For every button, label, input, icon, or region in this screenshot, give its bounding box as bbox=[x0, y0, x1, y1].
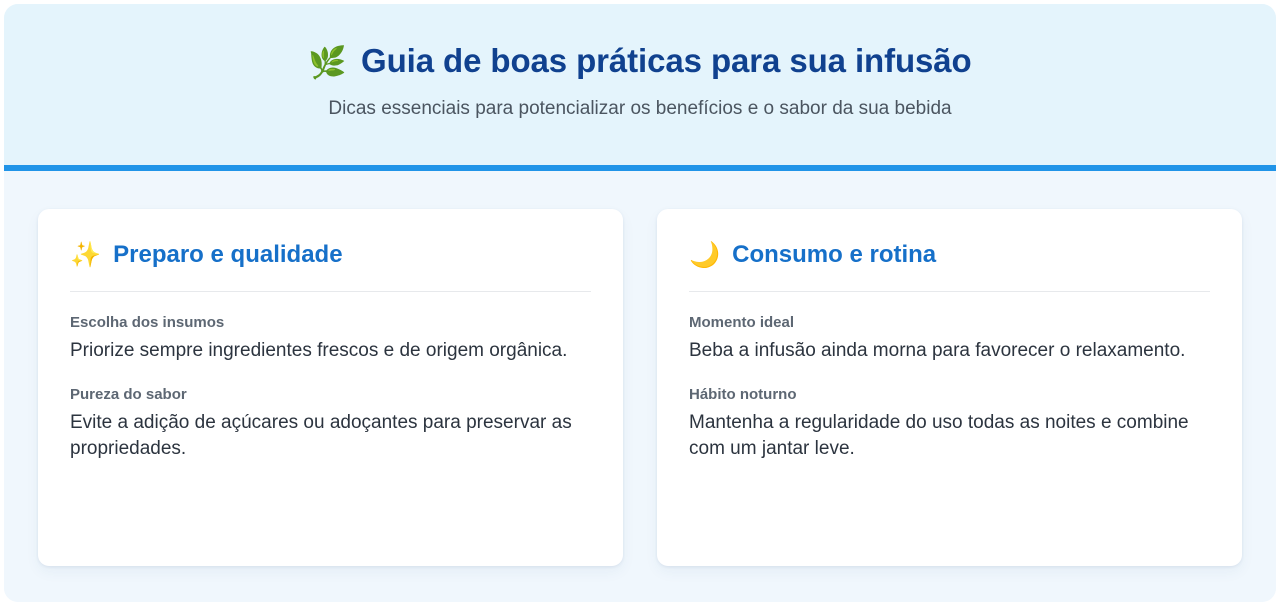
card-title: Consumo e rotina bbox=[732, 241, 936, 269]
tip-text: Priorize sempre ingredientes frescos e d… bbox=[70, 338, 591, 364]
cards-container: ✨ Preparo e qualidade Escolha dos insumo… bbox=[4, 171, 1276, 602]
tip-label: Hábito noturno bbox=[689, 386, 1210, 405]
card-header: 🌙 Consumo e rotina bbox=[689, 239, 1210, 271]
crescent-moon-icon: 🌙 bbox=[689, 243, 720, 268]
card-consumo-e-rotina: 🌙 Consumo e rotina Momento ideal Beba a … bbox=[657, 209, 1242, 566]
page-subtitle: Dicas essenciais para potencializar os b… bbox=[4, 98, 1276, 120]
card-header: ✨ Preparo e qualidade bbox=[70, 239, 591, 271]
herb-leaf-icon: 🌿 bbox=[308, 47, 347, 78]
sparkles-icon: ✨ bbox=[70, 243, 101, 268]
tip-label: Escolha dos insumos bbox=[70, 314, 591, 333]
guide-panel: 🌿 Guia de boas práticas para sua infusão… bbox=[4, 4, 1276, 602]
card-separator bbox=[70, 291, 591, 292]
page-header: 🌿 Guia de boas práticas para sua infusão… bbox=[4, 4, 1276, 165]
card-title: Preparo e qualidade bbox=[113, 241, 342, 269]
tip-text: Beba a infusão ainda morna para favorece… bbox=[689, 338, 1210, 364]
title-row: 🌿 Guia de boas práticas para sua infusão bbox=[4, 38, 1276, 84]
page-title: Guia de boas práticas para sua infusão bbox=[361, 42, 972, 80]
tip-label: Pureza do sabor bbox=[70, 386, 591, 405]
tip-item: Pureza do sabor Evite a adição de açúcar… bbox=[70, 386, 591, 462]
tip-item: Escolha dos insumos Priorize sempre ingr… bbox=[70, 314, 591, 364]
card-preparo-e-qualidade: ✨ Preparo e qualidade Escolha dos insumo… bbox=[38, 209, 623, 566]
tip-label: Momento ideal bbox=[689, 314, 1210, 333]
tip-text: Mantenha a regularidade do uso todas as … bbox=[689, 410, 1210, 462]
card-separator bbox=[689, 291, 1210, 292]
tip-text: Evite a adição de açúcares ou adoçantes … bbox=[70, 410, 591, 462]
tip-item: Hábito noturno Mantenha a regularidade d… bbox=[689, 386, 1210, 462]
tip-item: Momento ideal Beba a infusão ainda morna… bbox=[689, 314, 1210, 364]
